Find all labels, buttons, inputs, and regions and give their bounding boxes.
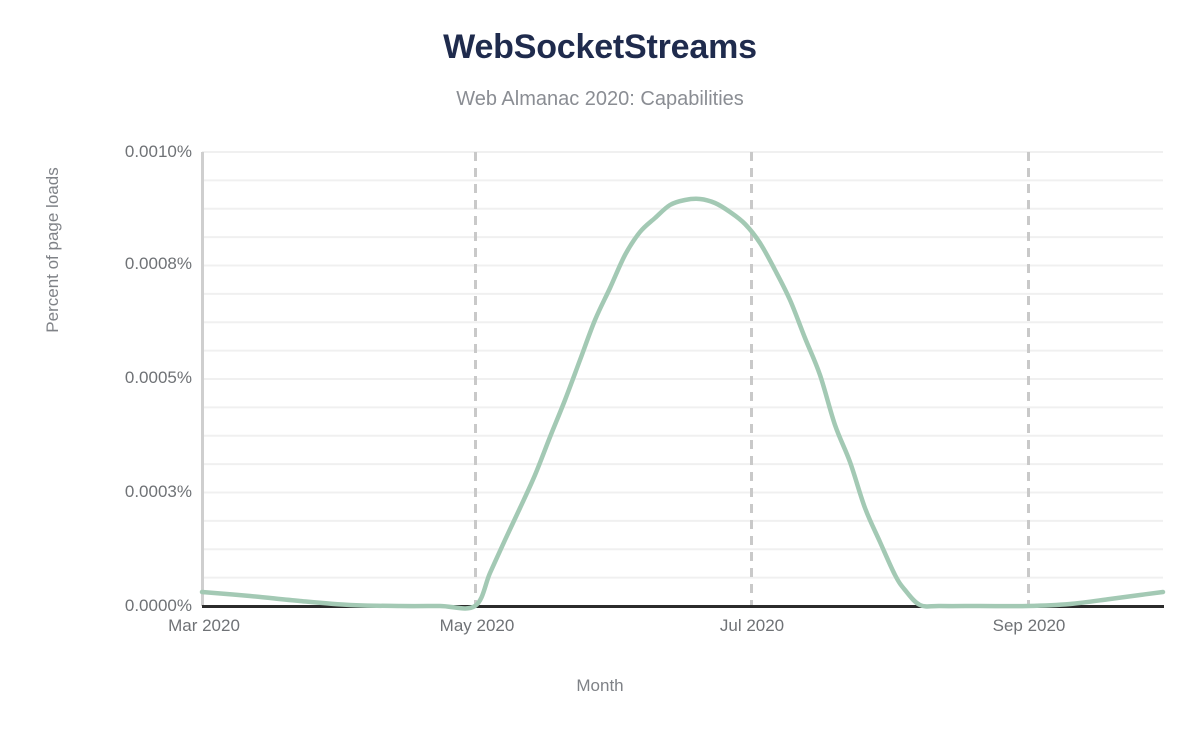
horizontal-gridlines bbox=[202, 152, 1163, 606]
plot-area bbox=[0, 0, 1200, 742]
data-series-line bbox=[202, 199, 1163, 609]
chart-container: WebSocketStreams Web Almanac 2020: Capab… bbox=[0, 0, 1200, 742]
